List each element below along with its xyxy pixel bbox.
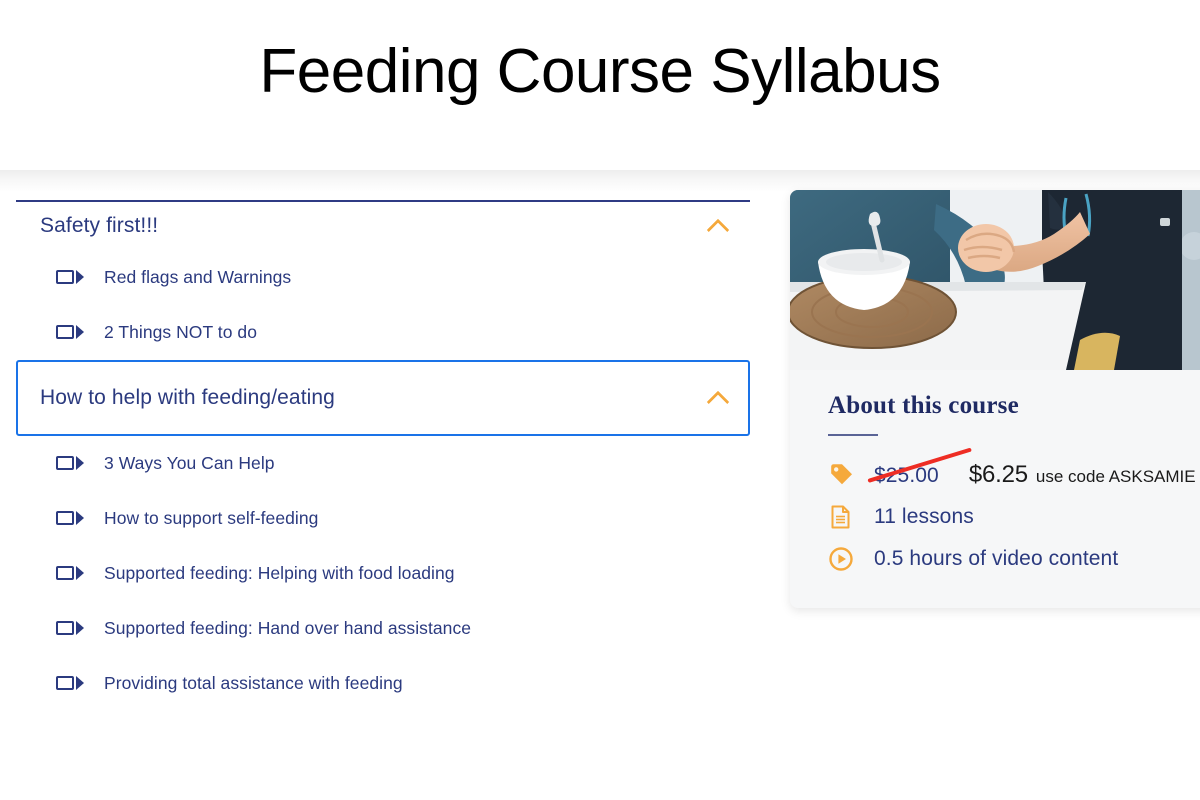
list-item[interactable]: How to support self-feeding	[16, 491, 750, 546]
about-this-course-title: About this course	[828, 392, 1200, 420]
video-camera-icon	[56, 675, 86, 693]
original-price-wrapper: $25.00	[874, 464, 939, 488]
video-duration-text: 0.5 hours of video content	[874, 547, 1118, 571]
list-item[interactable]: Providing total assistance with feeding	[16, 656, 750, 711]
video-camera-icon	[56, 620, 86, 638]
lesson-label: Supported feeding: Hand over hand assist…	[104, 618, 471, 639]
curriculum-section-safety-first: Safety first!!! Red flags and Warnings 2…	[16, 202, 750, 360]
about-this-course-card: About this course $25.00	[790, 190, 1200, 608]
document-icon	[828, 504, 862, 530]
curriculum-panel: Safety first!!! Red flags and Warnings 2…	[16, 200, 750, 711]
video-camera-icon	[56, 565, 86, 583]
chevron-up-icon[interactable]	[706, 385, 732, 411]
lesson-label: Supported feeding: Helping with food loa…	[104, 563, 455, 584]
section-title: How to help with feeding/eating	[40, 386, 335, 410]
curriculum-section-how-to-help: How to help with feeding/eating 3 Ways Y…	[16, 360, 750, 711]
lesson-list-safety-first: Red flags and Warnings 2 Things NOT to d…	[16, 250, 750, 360]
play-circle-icon	[828, 546, 862, 572]
video-camera-icon	[56, 269, 86, 287]
lesson-label: Providing total assistance with feeding	[104, 673, 403, 694]
page-title: Feeding Course Syllabus	[0, 38, 1200, 106]
section-header-how-to-help[interactable]: How to help with feeding/eating	[16, 360, 750, 436]
price-tag-icon	[828, 462, 862, 488]
section-header-safety-first[interactable]: Safety first!!!	[16, 202, 750, 250]
lessons-count-text: 11 lessons	[874, 505, 974, 529]
course-facts-list: $25.00 $6.25 use code ASKSAMIE	[828, 454, 1200, 580]
course-fact-lessons: 11 lessons	[828, 496, 1200, 538]
list-item[interactable]: 3 Ways You Can Help	[16, 436, 750, 491]
course-fact-price: $25.00 $6.25 use code ASKSAMIE	[828, 454, 1200, 496]
price-fact-text: $25.00 $6.25 use code ASKSAMIE	[874, 461, 1196, 489]
list-item[interactable]: 2 Things NOT to do	[16, 305, 750, 360]
sale-price: $6.25	[969, 461, 1028, 489]
course-page-content: Safety first!!! Red flags and Warnings 2…	[0, 170, 1200, 800]
list-item[interactable]: Red flags and Warnings	[16, 250, 750, 305]
list-item[interactable]: Supported feeding: Helping with food loa…	[16, 546, 750, 601]
video-camera-icon	[56, 455, 86, 473]
about-title-divider	[828, 434, 878, 436]
lesson-list-how-to-help: 3 Ways You Can Help How to support self-…	[16, 436, 750, 711]
course-card-body: About this course $25.00	[790, 370, 1200, 608]
lesson-label: Red flags and Warnings	[104, 267, 291, 288]
promo-code-text: use code ASKSAMIE	[1036, 467, 1196, 487]
course-fact-video: 0.5 hours of video content	[828, 538, 1200, 580]
video-camera-icon	[56, 510, 86, 528]
lesson-label: How to support self-feeding	[104, 508, 318, 529]
content-top-fade	[0, 170, 1200, 192]
video-camera-icon	[56, 324, 86, 342]
section-title: Safety first!!!	[40, 214, 158, 238]
course-thumbnail-image	[790, 190, 1200, 370]
lesson-label: 3 Ways You Can Help	[104, 453, 275, 474]
chevron-up-icon[interactable]	[706, 213, 732, 239]
list-item[interactable]: Supported feeding: Hand over hand assist…	[16, 601, 750, 656]
lesson-label: 2 Things NOT to do	[104, 322, 257, 343]
